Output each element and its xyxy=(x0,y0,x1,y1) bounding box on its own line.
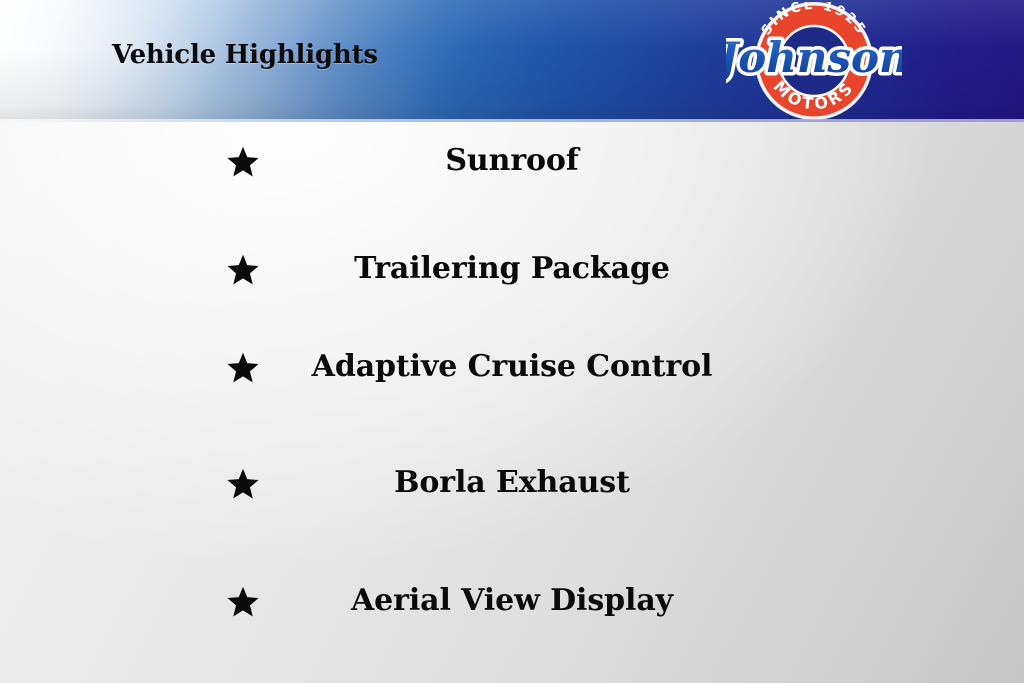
list-item-label: Sunroof xyxy=(0,143,1024,178)
vehicle-highlights-list: Sunroof Trailering Package Adaptive Crui… xyxy=(0,122,1024,683)
list-item-label: Trailering Package xyxy=(0,251,1024,286)
svg-text:Johnson: Johnson xyxy=(726,33,902,82)
list-item-label: Aerial View Display xyxy=(0,583,1024,618)
slide-canvas: Vehicle Highlights xyxy=(0,0,1024,683)
logo-brand-wordmark: Johnson Johnson xyxy=(726,33,902,82)
list-item-label: Adaptive Cruise Control xyxy=(0,349,1024,384)
list-item-label: Borla Exhaust xyxy=(0,465,1024,500)
header-banner: Vehicle Highlights xyxy=(0,0,1024,122)
page-title: Vehicle Highlights xyxy=(112,40,378,70)
johnson-motors-logo: SINCE 1925 MOTORS Johnson Johnson xyxy=(726,2,902,120)
